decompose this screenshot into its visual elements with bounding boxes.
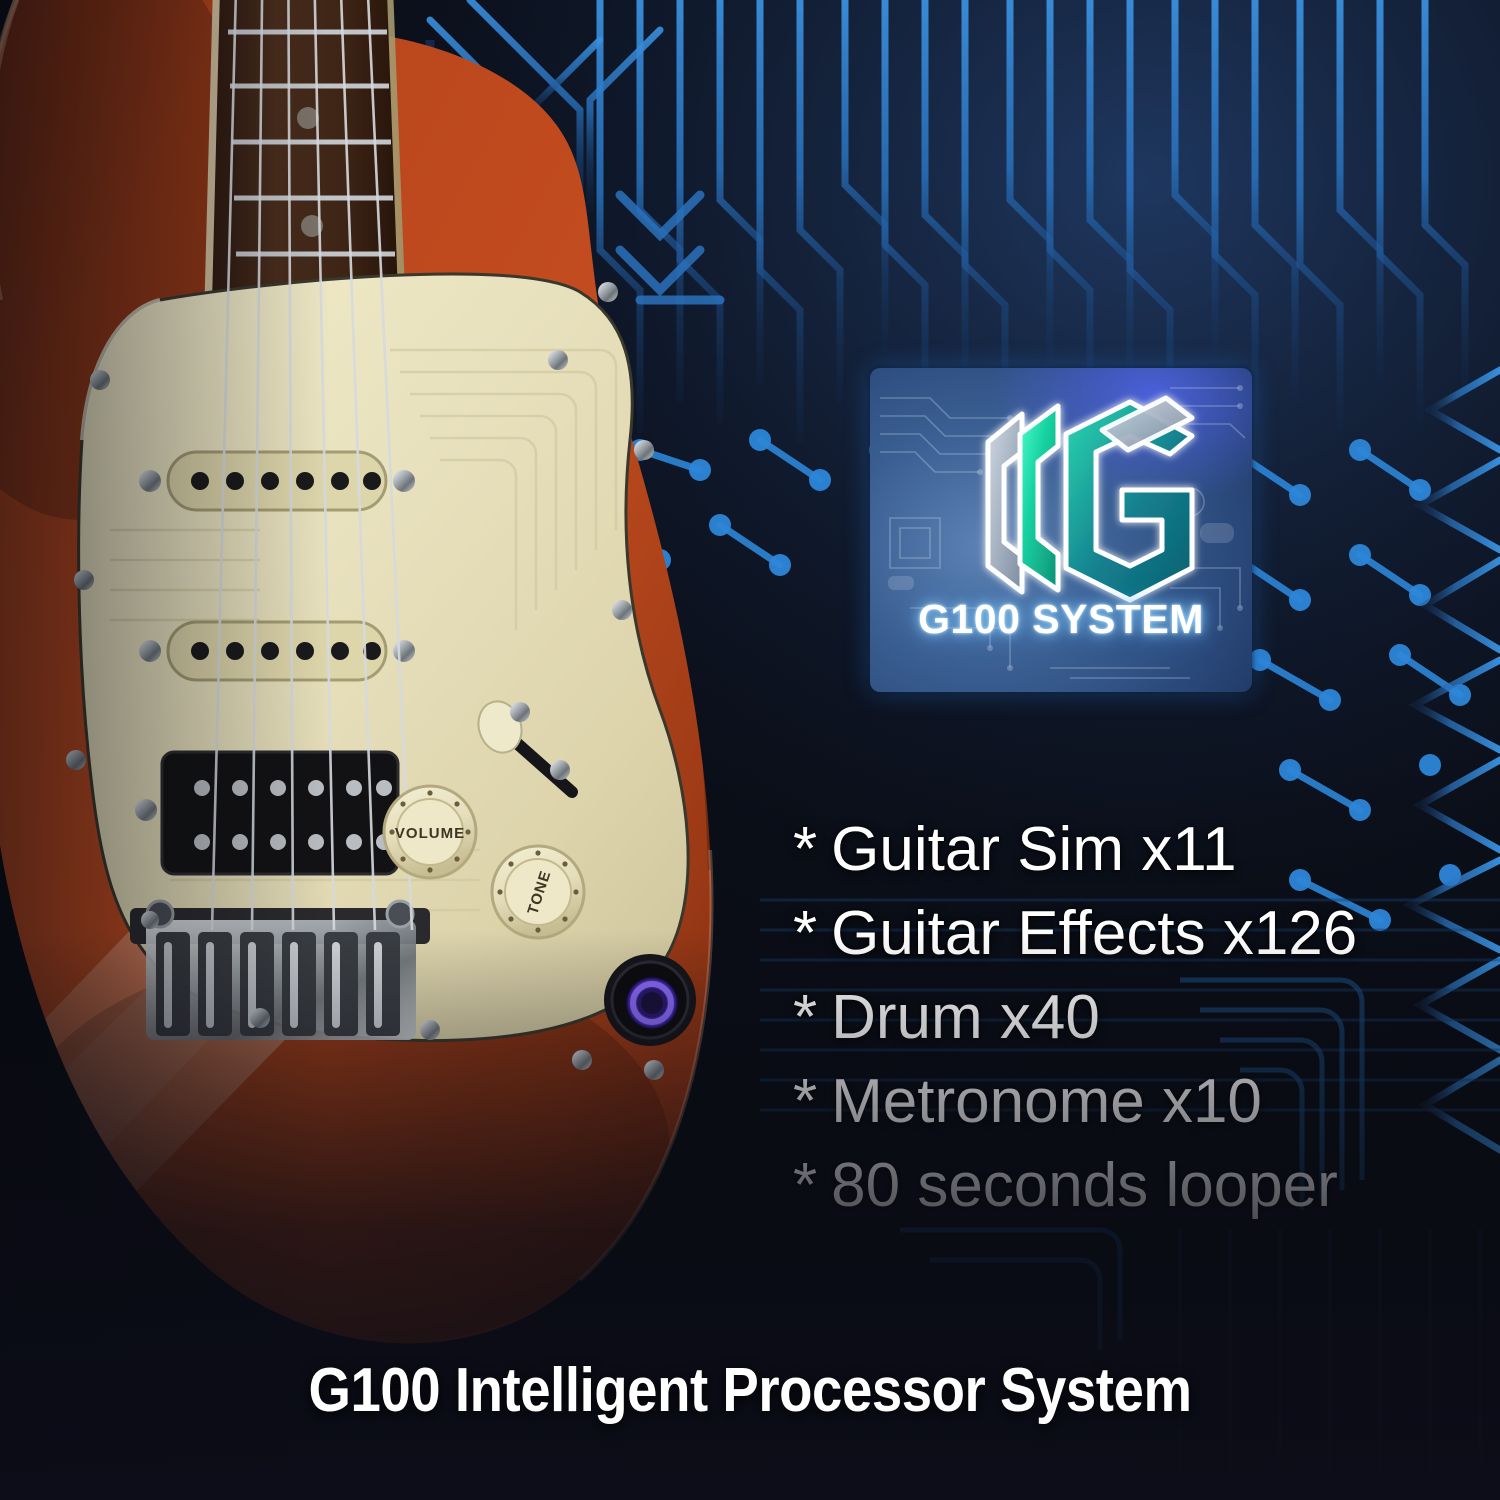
feature-bullet: *	[793, 983, 817, 1052]
g-hexagon-logo-icon	[870, 374, 1252, 604]
pickup-neck-single-coil	[139, 452, 415, 510]
feature-item-2: *Drum x40	[793, 976, 1473, 1060]
volume-knob: VOLUME	[384, 786, 476, 878]
bridge-tremolo	[130, 901, 430, 1040]
feature-item-3: *Metronome x10	[793, 1060, 1473, 1144]
feature-bullet: *	[793, 815, 817, 884]
feature-bullet: *	[793, 1151, 817, 1220]
feature-label: Guitar Effects x126	[831, 899, 1357, 968]
feature-item-1: *Guitar Effects x126	[793, 892, 1473, 976]
feature-bullet: *	[793, 899, 817, 968]
volume-knob-label: VOLUME	[395, 825, 465, 842]
feature-list: *Guitar Sim x11 *Guitar Effects x126 *Dr…	[793, 808, 1473, 1228]
feature-item-0: *Guitar Sim x11	[793, 808, 1473, 892]
product-caption: G100 Intelligent Processor System	[90, 1355, 1410, 1426]
feature-item-4: *80 seconds looper	[793, 1144, 1473, 1228]
product-image: VOLUME TONE	[0, 0, 1500, 1500]
feature-bullet: *	[793, 1067, 817, 1136]
pickup-bridge-humbucker	[135, 752, 423, 874]
feature-label: Drum x40	[831, 983, 1100, 1052]
feature-label: Guitar Sim x11	[831, 815, 1236, 884]
output-jack-led	[604, 954, 696, 1046]
pickup-middle-single-coil	[139, 622, 415, 680]
g100-system-badge: G100 SYSTEM	[870, 368, 1252, 692]
tone-knob: TONE	[492, 846, 584, 938]
electric-guitar: VOLUME TONE	[0, 0, 840, 1420]
feature-label: 80 seconds looper	[831, 1151, 1338, 1220]
feature-label: Metronome x10	[831, 1067, 1262, 1136]
badge-title: G100 SYSTEM	[870, 596, 1252, 643]
